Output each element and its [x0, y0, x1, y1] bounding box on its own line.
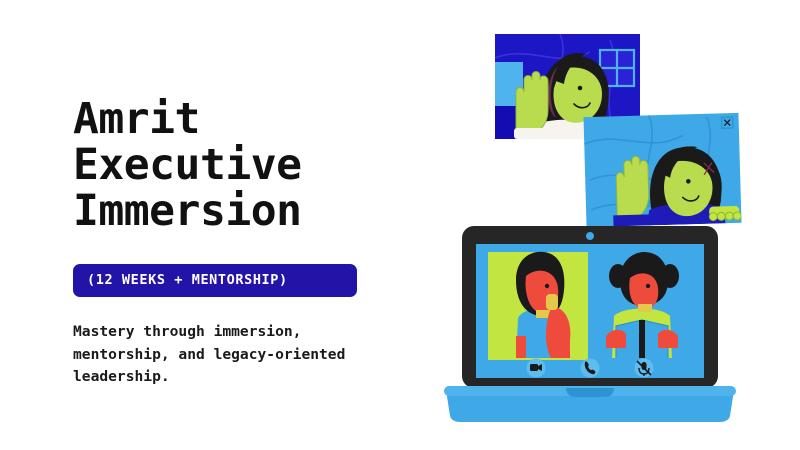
video-tile-left[interactable] [488, 252, 588, 360]
webcam-icon [586, 232, 594, 240]
corner-hand-middle [709, 206, 741, 221]
page-title: Amrit Executive Immersion [73, 96, 433, 234]
laptop [444, 226, 736, 422]
video-tile-right[interactable] [592, 252, 692, 360]
illustration [440, 18, 780, 428]
subtitle-text: Mastery through immersion, mentorship, a… [73, 321, 393, 389]
text-column: Amrit Executive Immersion (12 WEEKS + ME… [73, 96, 433, 403]
status-badge: (12 WEEKS + MENTORSHIP) [73, 264, 357, 297]
slide-root: Amrit Executive Immersion (12 WEEKS + ME… [0, 0, 800, 450]
microphone-mute-button[interactable] [635, 359, 654, 378]
video-panel-middle [583, 113, 741, 227]
phone-call-button[interactable] [581, 359, 600, 378]
video-camera-button[interactable] [527, 359, 546, 378]
